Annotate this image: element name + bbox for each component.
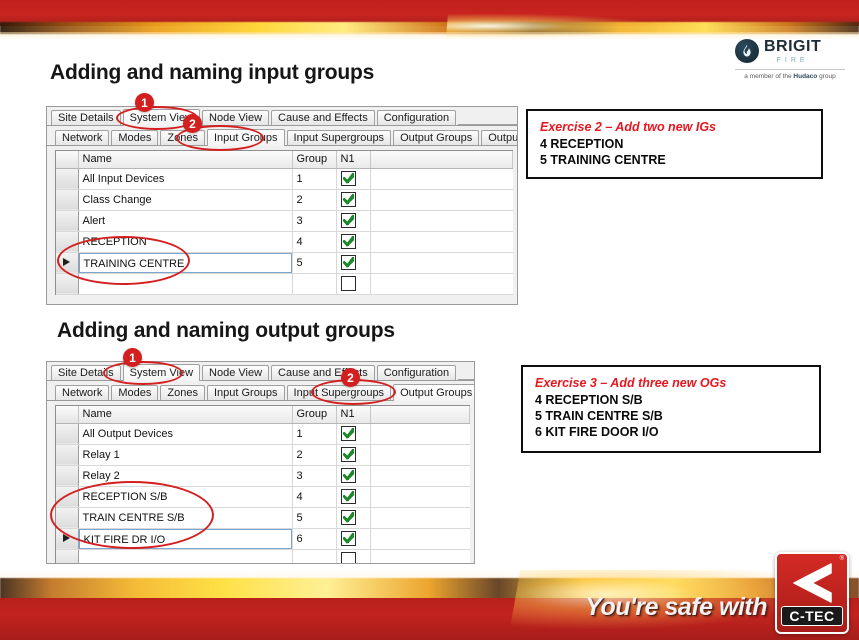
column-header-name[interactable]: Name [78,406,292,423]
row-selector[interactable] [56,273,78,294]
inner-tabstrip-input: Network Modes Zones Input Groups Input S… [47,129,517,146]
cell-pad [370,423,470,444]
callout-badge-1-output: 1 [123,348,142,367]
callout-badge-1-input: 1 [135,93,154,112]
row-selector[interactable] [56,231,78,252]
tab-input-groups[interactable]: Input Groups [207,385,285,400]
tab-input-supergroups[interactable]: Input Supergroups [287,130,392,145]
tab-network[interactable]: Network [55,130,109,145]
table-row[interactable]: All Output Devices 1 [56,423,470,444]
exercise-3-title: Exercise 3 – Add three new OGs [535,376,807,390]
inner-tabstrip-output: Network Modes Zones Input Groups Input S… [47,384,474,401]
column-header-group[interactable]: Group [292,406,336,423]
table-row[interactable]: Class Change 2 [56,189,513,210]
row-selector[interactable] [56,465,78,486]
table-row[interactable]: Alert 3 [56,210,513,231]
cell-group[interactable]: 2 [292,189,336,210]
tab-input-groups[interactable]: Input Groups [207,129,285,146]
member-post: group [817,73,835,80]
cell-name-editing[interactable]: TRAINING CENTRE [78,252,292,273]
brigit-fire-logo: BRIGIT FIRE a member of the Hudaco group [735,38,845,84]
brigit-word: BRIGIT [764,38,821,55]
input-groups-table: Name Group N1 All Input Devices 1 Class … [56,151,513,295]
cell-n1[interactable] [336,210,370,231]
table-header-row: Name Group N1 [56,406,470,423]
cell-group[interactable]: 1 [292,423,336,444]
callout-badge-2-input: 2 [183,114,202,133]
checkbox-checked-icon[interactable] [341,255,356,270]
exercise-2-line-2: 5 TRAINING CENTRE [540,152,809,168]
cell-name[interactable]: RECEPTION S/B [78,486,292,507]
cell-pad [370,444,470,465]
cell-n1[interactable] [336,168,370,189]
cell-group[interactable]: 5 [292,507,336,528]
flame-icon [735,39,759,63]
row-selector[interactable] [56,507,78,528]
cell-group[interactable]: 1 [292,168,336,189]
exercise-3-line-3: 6 KIT FIRE DOOR I/O [535,424,807,440]
tab-modes[interactable]: Modes [111,385,158,400]
tab-configuration[interactable]: Configuration [377,365,456,380]
outer-tabstrip-input: Site Details System View Node View Cause… [47,109,517,126]
exercise-2-line-1: 4 RECEPTION [540,136,809,152]
cell-name[interactable]: All Output Devices [78,423,292,444]
checkbox-checked-icon[interactable] [341,468,356,483]
checkbox-checked-icon[interactable] [341,447,356,462]
tab-output-groups[interactable]: Output Groups [393,384,475,401]
tab-output-groups[interactable]: Output Groups [393,130,479,145]
top-decorative-banner [0,0,859,40]
cell-pad [370,549,470,564]
current-row-arrow-icon [63,534,70,542]
row-selector[interactable] [56,210,78,231]
tab-site-details[interactable]: Site Details [51,365,121,380]
table-row[interactable]: All Input Devices 1 [56,168,513,189]
table-row[interactable]: RECEPTION S/B 4 [56,486,470,507]
exercise-3-line-2: 5 TRAIN CENTRE S/B [535,408,807,424]
callout-badge-2-output: 2 [341,368,360,387]
cell-group[interactable] [292,273,336,294]
row-selector[interactable] [56,168,78,189]
cell-n1[interactable] [336,486,370,507]
table-row-new[interactable] [56,273,513,294]
cell-name[interactable]: Alert [78,210,292,231]
tab-output-supergroups[interactable]: Output Supergroups [481,130,518,145]
checkbox-unchecked-icon[interactable] [341,552,356,564]
tagline-text: You're safe with [585,593,767,622]
column-header-pad [370,406,470,423]
exercise-3-note: Exercise 3 – Add three new OGs 4 RECEPTI… [521,365,821,453]
name-edit-input[interactable]: TRAINING CENTRE [79,253,292,273]
tab-node-view[interactable]: Node View [202,110,269,125]
ctec-logo: ® C-TEC [775,552,849,634]
cell-name[interactable]: Relay 1 [78,444,292,465]
checkbox-checked-icon[interactable] [341,213,356,228]
brigit-subword: FIRE [764,57,821,64]
cell-n1[interactable] [336,465,370,486]
checkbox-checked-icon[interactable] [341,234,356,249]
output-groups-grid-container[interactable]: Name Group N1 All Output Devices 1 Relay… [55,405,470,564]
column-header-selector [56,406,78,423]
column-header-group[interactable]: Group [292,151,336,168]
page-title-output-groups: Adding and naming output groups [57,319,395,343]
tab-configuration[interactable]: Configuration [377,110,456,125]
cell-n1[interactable] [336,231,370,252]
table-row[interactable]: Relay 1 2 [56,444,470,465]
cell-name[interactable]: RECEPTION [78,231,292,252]
ctec-logo-block: ® C-TEC [765,552,849,632]
output-groups-table: Name Group N1 All Output Devices 1 Relay… [56,406,470,564]
checkbox-checked-icon[interactable] [341,510,356,525]
cell-name[interactable] [78,273,292,294]
cell-pad [370,273,513,294]
exercise-2-title: Exercise 2 – Add two new IGs [540,120,809,134]
cell-group[interactable]: 4 [292,486,336,507]
tab-input-supergroups[interactable]: Input Supergroups [287,385,392,400]
ctec-wordmark: C-TEC [781,606,843,626]
tab-cause-and-effects[interactable]: Cause and Effects [271,110,375,125]
column-header-pad [370,151,513,168]
ctec-arrow-icon [790,562,834,609]
cell-pad [370,507,470,528]
page-title-input-groups: Adding and naming input groups [50,61,374,85]
table-row-selected[interactable]: TRAINING CENTRE 5 [56,252,513,273]
hudaco-member-note: a member of the Hudaco group [735,69,845,80]
registered-trademark-icon: ® [840,556,844,562]
row-selector[interactable] [56,423,78,444]
tab-site-details[interactable]: Site Details [51,110,121,125]
row-selector[interactable] [56,444,78,465]
checkbox-checked-icon[interactable] [341,192,356,207]
column-header-n1[interactable]: N1 [336,406,370,423]
table-row-new[interactable] [56,549,470,564]
brigit-logo-row: BRIGIT FIRE [735,38,845,64]
outer-tabstrip-output: Site Details System View Node View Cause… [47,364,474,381]
member-pre: a member of the [744,73,793,80]
cell-pad [370,189,513,210]
cell-group[interactable]: 5 [292,252,336,273]
tabstrip-filler [458,108,517,125]
cell-n1[interactable] [336,423,370,444]
cell-n1[interactable] [336,528,370,549]
table-row-selected[interactable]: KIT FIRE DR I/O 6 [56,528,470,549]
cell-n1[interactable] [336,273,370,294]
cell-name[interactable]: Relay 2 [78,465,292,486]
input-groups-grid-container[interactable]: Name Group N1 All Input Devices 1 Class … [55,150,513,295]
checkbox-unchecked-icon[interactable] [341,276,356,291]
cell-pad [370,465,470,486]
cell-n1[interactable] [336,189,370,210]
cell-group[interactable]: 3 [292,210,336,231]
exercise-2-note: Exercise 2 – Add two new IGs 4 RECEPTION… [526,109,823,179]
checkbox-checked-icon[interactable] [341,426,356,441]
cell-pad [370,252,513,273]
cell-pad [370,168,513,189]
checkbox-checked-icon[interactable] [341,489,356,504]
column-header-selector [56,151,78,168]
cell-n1[interactable] [336,444,370,465]
name-edit-input[interactable]: KIT FIRE DR I/O [79,529,292,549]
cell-name-editing[interactable]: KIT FIRE DR I/O [78,528,292,549]
cell-pad [370,486,470,507]
tab-modes[interactable]: Modes [111,130,158,145]
cell-n1[interactable] [336,549,370,564]
current-row-arrow-icon [63,258,70,266]
cell-n1[interactable] [336,507,370,528]
row-selector-current[interactable] [56,252,78,273]
cell-group[interactable]: 6 [292,528,336,549]
cell-group[interactable]: 3 [292,465,336,486]
member-bold: Hudaco [793,73,817,80]
tab-node-view[interactable]: Node View [202,365,269,380]
tabstrip-filler [458,363,474,380]
cell-n1[interactable] [336,252,370,273]
cell-name[interactable]: TRAIN CENTRE S/B [78,507,292,528]
cell-name[interactable]: All Input Devices [78,168,292,189]
cell-name[interactable]: Class Change [78,189,292,210]
input-groups-rows: All Input Devices 1 Class Change 2 Alert… [56,168,513,294]
output-groups-rows: All Output Devices 1 Relay 1 2 Relay 2 3 [56,423,470,564]
cell-pad [370,210,513,231]
table-row[interactable]: RECEPTION 4 [56,231,513,252]
table-row[interactable]: Relay 2 3 [56,465,470,486]
cell-pad [370,231,513,252]
column-header-n1[interactable]: N1 [336,151,370,168]
row-selector[interactable] [56,549,78,564]
row-selector-current[interactable] [56,528,78,549]
exercise-3-line-1: 4 RECEPTION S/B [535,392,807,408]
cell-pad [370,528,470,549]
cell-group[interactable] [292,549,336,564]
tab-zones[interactable]: Zones [160,385,205,400]
output-groups-app-screenshot: Site Details System View Node View Cause… [46,361,475,564]
row-selector[interactable] [56,189,78,210]
row-selector[interactable] [56,486,78,507]
table-header-row: Name Group N1 [56,151,513,168]
cell-group[interactable]: 4 [292,231,336,252]
tab-network[interactable]: Network [55,385,109,400]
banner-fade [0,32,859,40]
tab-zones[interactable]: Zones [160,130,205,145]
brigit-wordmark: BRIGIT FIRE [764,38,821,64]
input-groups-app-screenshot: Site Details System View Node View Cause… [46,106,518,305]
column-header-name[interactable]: Name [78,151,292,168]
checkbox-checked-icon[interactable] [341,171,356,186]
cell-group[interactable]: 2 [292,444,336,465]
cell-name[interactable] [78,549,292,564]
table-row[interactable]: TRAIN CENTRE S/B 5 [56,507,470,528]
checkbox-checked-icon[interactable] [341,531,356,546]
